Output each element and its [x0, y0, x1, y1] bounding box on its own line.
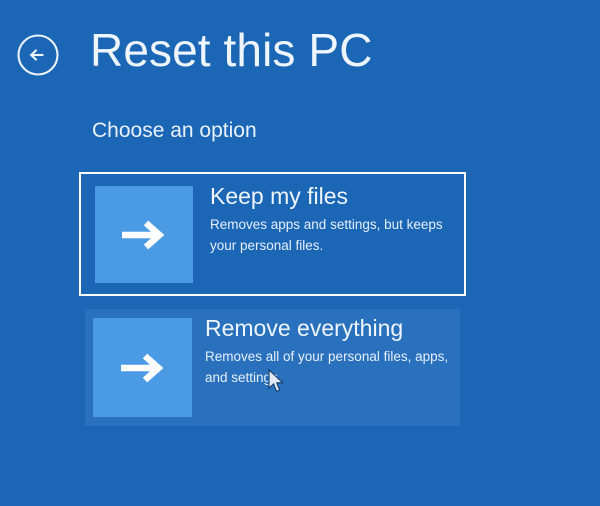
back-arrow-circle-icon — [16, 33, 60, 77]
tile-inner: Keep my files Removes apps and settings,… — [84, 177, 461, 291]
tile-description: Removes apps and settings, but keeps you… — [210, 214, 455, 256]
header: Reset this PC Choose an option — [0, 0, 600, 100]
option-tile-remove-everything[interactable]: Remove everything Removes all of your pe… — [85, 309, 460, 426]
tile-heading: Remove everything — [205, 313, 454, 343]
reset-this-pc-screen: Reset this PC Choose an option Keep my f… — [0, 0, 600, 506]
page-subtitle: Choose an option — [92, 117, 257, 145]
tile-icon-box — [95, 186, 193, 283]
tile-description: Removes all of your personal files, apps… — [205, 346, 453, 388]
option-tile-keep-my-files[interactable]: Keep my files Removes apps and settings,… — [79, 172, 466, 296]
tile-icon-box — [93, 318, 192, 417]
tile-text: Keep my files Removes apps and settings,… — [210, 181, 455, 256]
back-button[interactable] — [16, 33, 60, 77]
tile-inner: Remove everything Removes all of your pe… — [85, 309, 460, 426]
right-arrow-icon — [116, 214, 172, 256]
page-title: Reset this PC — [90, 21, 373, 79]
tile-heading: Keep my files — [210, 181, 455, 211]
right-arrow-icon — [115, 347, 171, 389]
tile-text: Remove everything Removes all of your pe… — [205, 313, 454, 388]
